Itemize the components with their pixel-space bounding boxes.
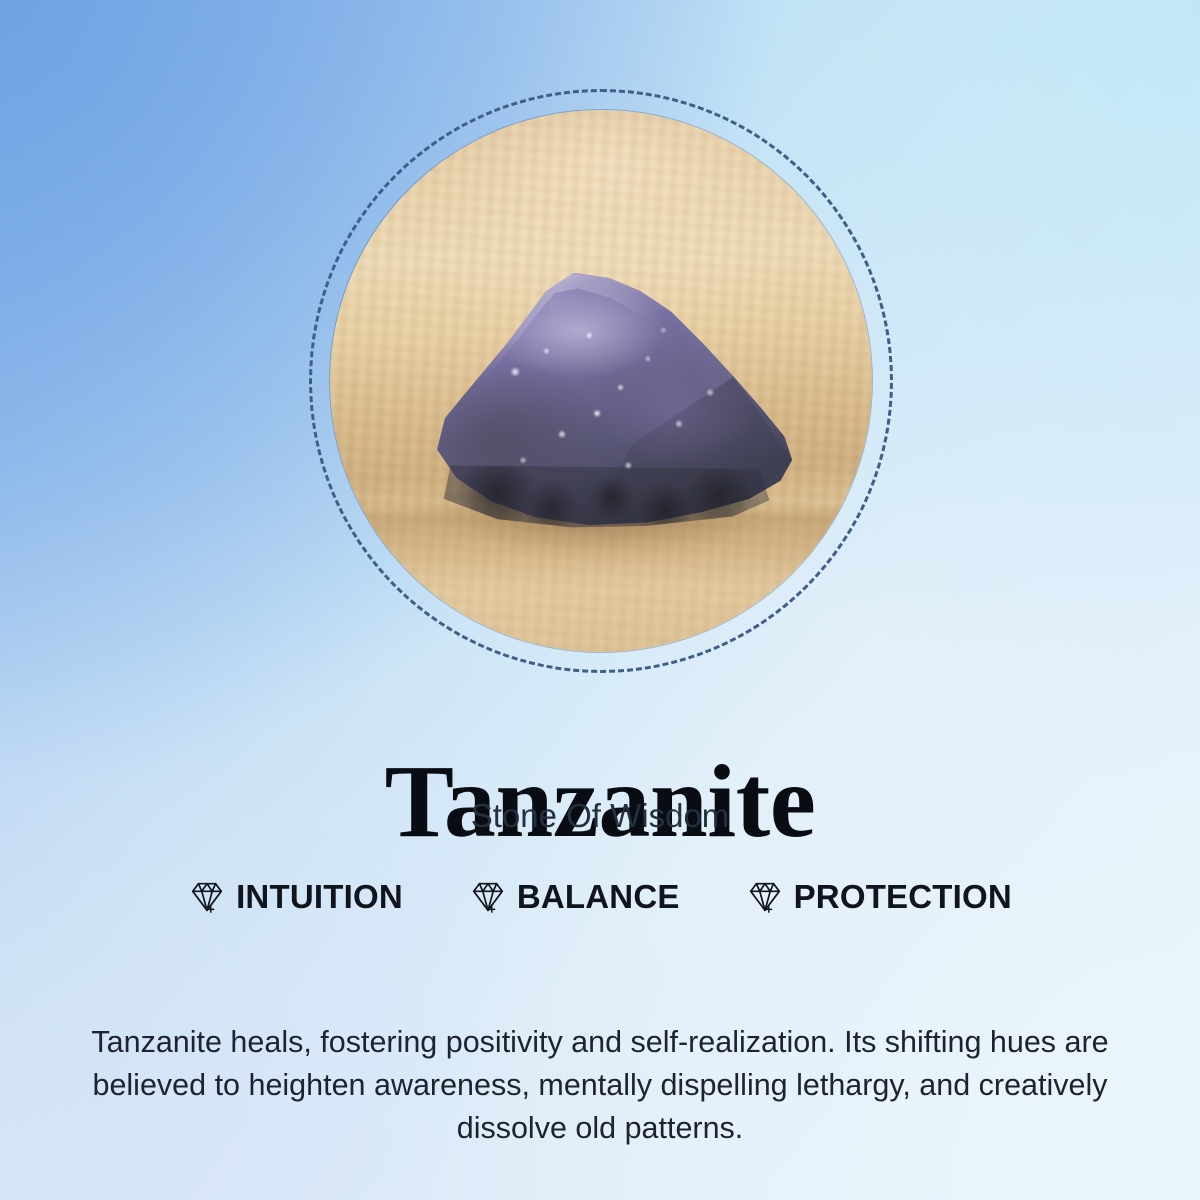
subtitle: Stone Of Wisdom [0, 798, 1200, 834]
keyword-label: BALANCE [517, 878, 680, 916]
gem-icon [188, 878, 226, 916]
keyword-label: INTUITION [236, 878, 403, 916]
gem-icon [746, 878, 784, 916]
description-text: Tanzanite heals, fostering positivity an… [82, 1021, 1118, 1150]
hero-medallion [309, 89, 893, 673]
stone-info-card: Tanzanite Stone Of Wisdom INTUITION [0, 0, 1200, 1200]
gem-icon [469, 878, 507, 916]
keyword-item-protection: PROTECTION [746, 878, 1012, 916]
keyword-list: INTUITION BALANCE [0, 878, 1200, 916]
keyword-label: PROTECTION [794, 878, 1012, 916]
tanzanite-crystal [406, 273, 796, 533]
keyword-item-intuition: INTUITION [188, 878, 403, 916]
tanzanite-photo [330, 110, 872, 652]
keyword-item-balance: BALANCE [469, 878, 680, 916]
